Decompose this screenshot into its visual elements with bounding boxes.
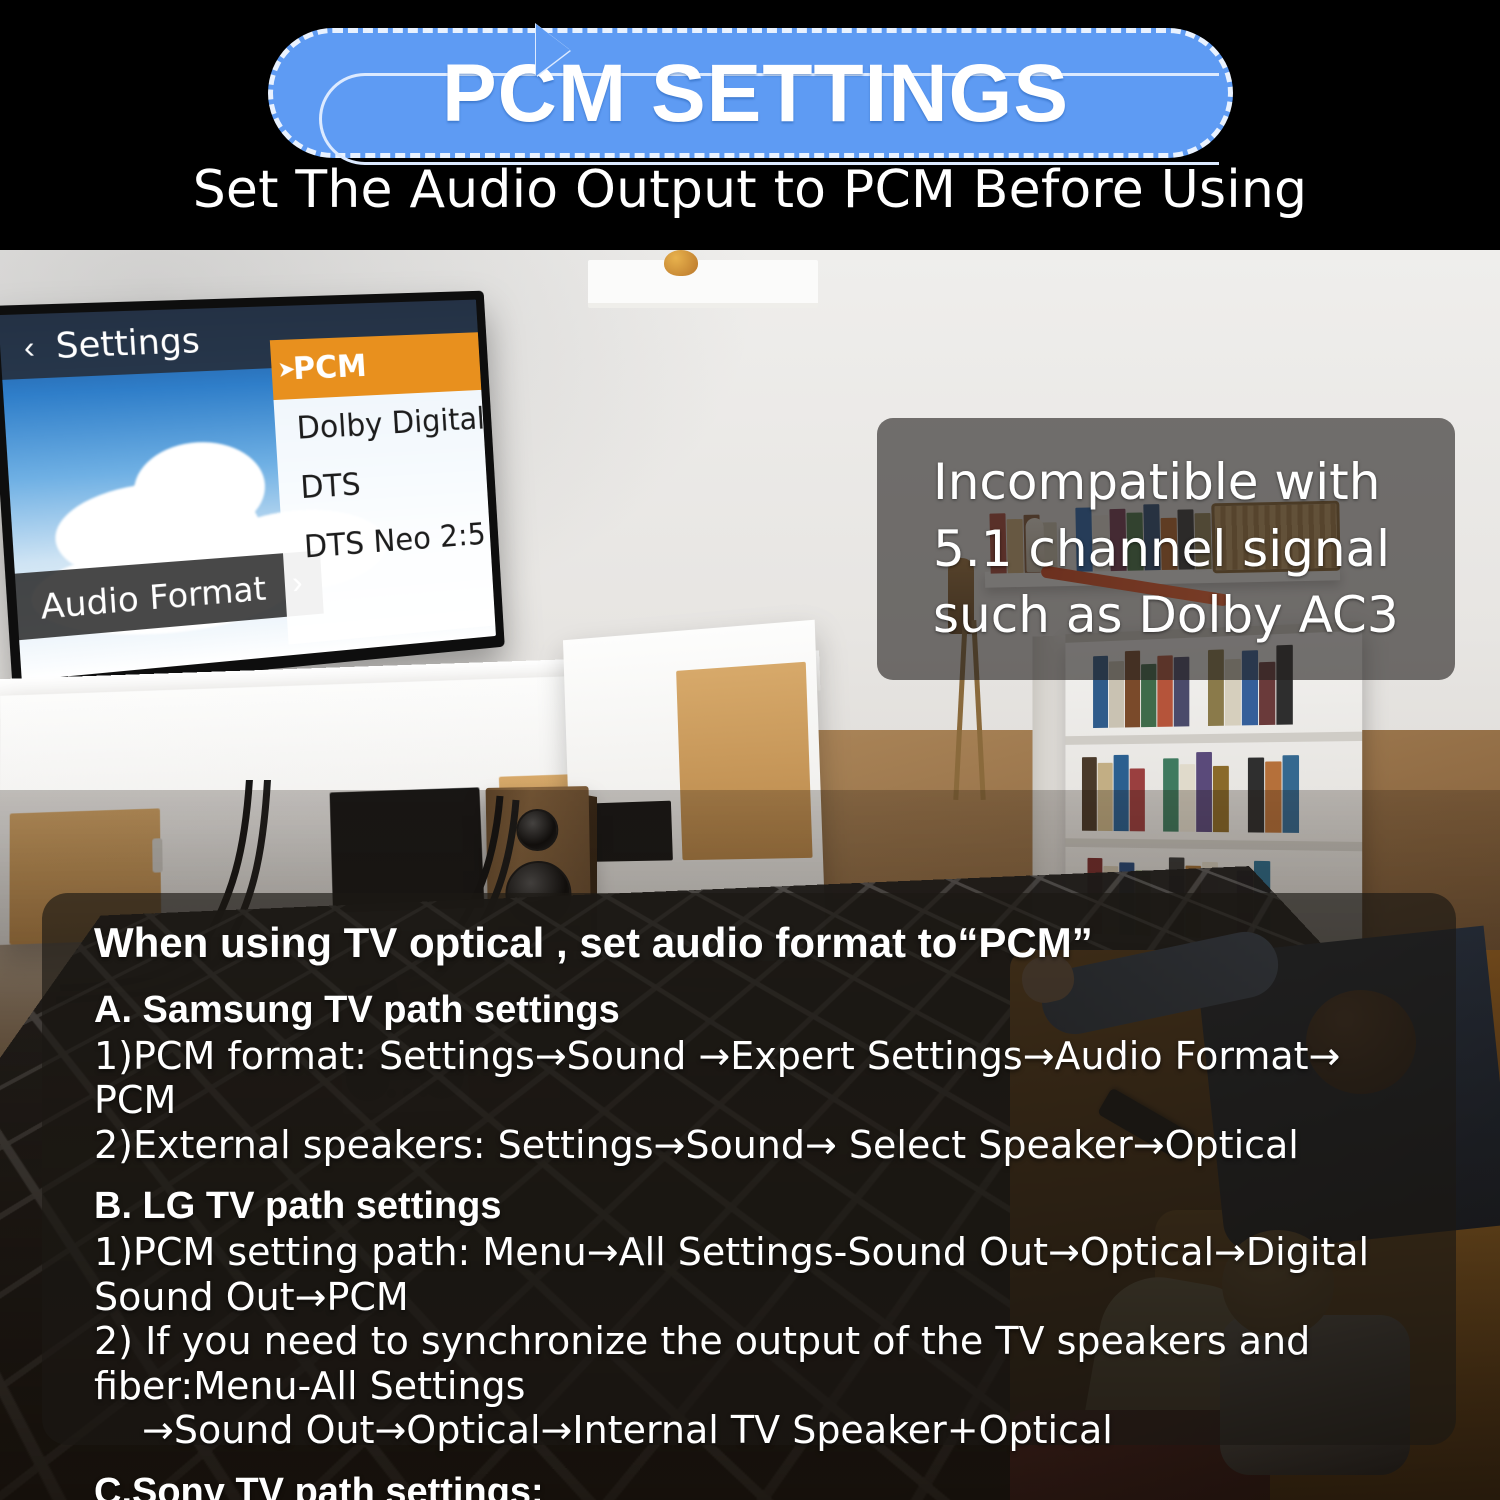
section-samsung: A. Samsung TV path settings 1)PCM format… [94,989,1416,1167]
instructions-heading: When using TV optical , set audio format… [94,919,1416,967]
header-subtitle: Set The Audio Output to PCM Before Using [0,160,1500,220]
section-samsung-line-1: 1)PCM format: Settings→Sound →Expert Set… [94,1034,1416,1123]
section-samsung-title: A. Samsung TV path settings [94,989,1416,1032]
section-sony: C.Sony TV path settings: 1)PCM setting p… [94,1471,1416,1500]
page-title: PCM SETTINGS [273,33,1238,163]
option-dts-label: DTS [299,467,361,506]
curved-refresh-arrow-icon [536,24,570,76]
tv-screen: ‹ Settings Audio Format › ➤ PCM Dolby Di… [0,300,496,681]
callout-line-2: 5.1 channel signal [933,520,1390,578]
section-lg-line-2: 2) If you need to synchronize the output… [94,1319,1416,1408]
option-dts-neo-label: DTS Neo 2:5 [303,517,487,566]
option-pcm-label: PCM [292,348,368,387]
section-samsung-line-2: 2)External speakers: Settings→Sound→ Sel… [94,1123,1416,1167]
callout-line-1: Incompatible with [933,453,1380,511]
banner-wrapper: PCM SETTINGS [258,22,1233,158]
audio-format-options-list: ➤ PCM Dolby Digital DTS DTS Neo 2:5 [270,332,496,645]
section-lg-line-3: →Sound Out→Optical→Internal TV Speaker+O… [94,1408,1416,1452]
section-lg-line-1: 1)PCM setting path: Menu→All Settings-So… [94,1230,1416,1319]
section-lg: B. LG TV path settings 1)PCM setting pat… [94,1185,1416,1452]
section-sony-title: C.Sony TV path settings: [94,1471,1416,1500]
tv-menu-title: Settings [54,321,200,367]
instructions-panel: When using TV optical , set audio format… [42,893,1456,1445]
header-band: PCM SETTINGS Set The Audio Output to PCM… [0,0,1500,250]
decor-fruit [664,250,698,276]
product-infographic: PCM SETTINGS Set The Audio Output to PCM… [0,0,1500,1500]
compatibility-callout: Incompatible with 5.1 channel signal suc… [877,418,1455,680]
option-dolby-digital-label: Dolby Digital [296,401,486,446]
window-ledge [588,260,818,308]
back-chevron-icon[interactable]: ‹ [23,331,36,367]
title-banner: PCM SETTINGS [268,28,1233,158]
section-lg-title: B. LG TV path settings [94,1185,1416,1228]
audio-format-label: Audio Format [39,569,267,627]
callout-line-3: such as Dolby AC3 [933,586,1399,644]
selected-caret-icon: ➤ [277,357,297,383]
television: ‹ Settings Audio Format › ➤ PCM Dolby Di… [0,291,505,694]
